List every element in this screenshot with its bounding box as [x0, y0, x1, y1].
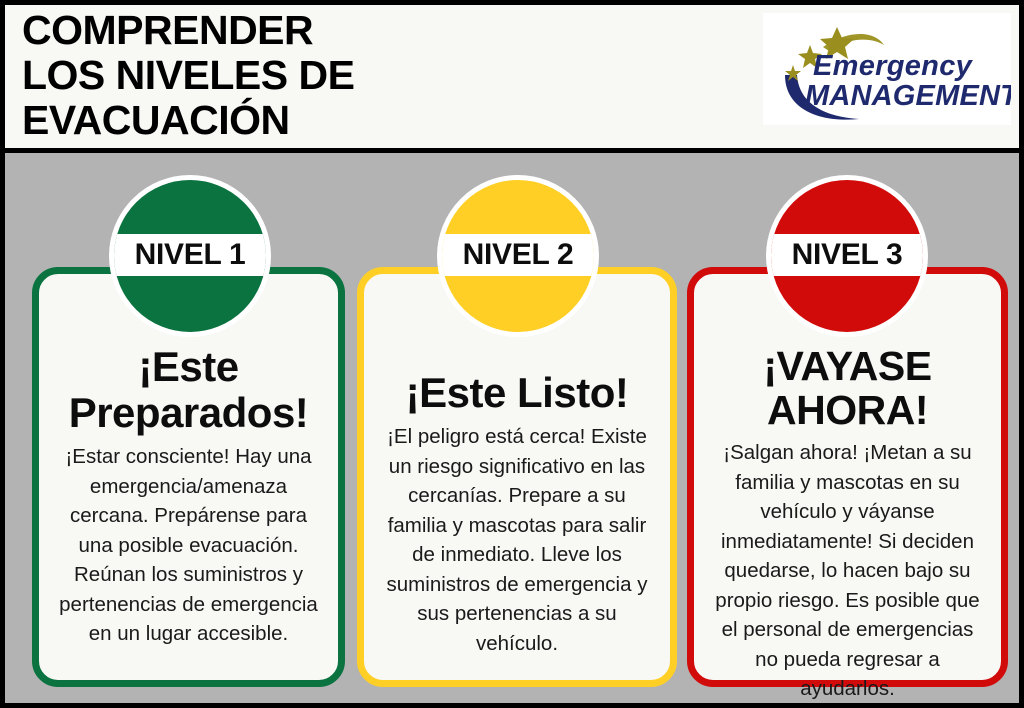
level-card-1-heading-line-1: ¡Este [138, 343, 238, 390]
level-badge-1-label: NIVEL 1 [135, 238, 246, 272]
level-badge-3-label: NIVEL 3 [792, 238, 903, 272]
level-card-2-content: ¡Este Listo! ¡El peligro está cerca! Exi… [364, 370, 670, 658]
level-card-1-heading: ¡Este Preparados! [49, 344, 328, 436]
title-line-1: COMPRENDER [22, 8, 762, 53]
logo-line-1-text: Emergency [813, 50, 974, 82]
level-badge-2-label: NIVEL 2 [463, 238, 574, 272]
title-line-2: LOS NIVELES DE [22, 53, 762, 98]
level-card-2-heading: ¡Este Listo! [374, 370, 660, 416]
level-badge-1: NIVEL 1 [109, 175, 271, 337]
level-card-2-heading-line-1: ¡Este Listo! [406, 369, 629, 416]
level-card-1-body: ¡Estar consciente! Hay una emergencia/am… [49, 442, 328, 649]
level-badge-2: NIVEL 2 [437, 175, 599, 337]
level-card-3-body: ¡Salgan ahora! ¡Metan a su familia y mas… [704, 438, 991, 704]
level-card-3-heading-line-1: ¡VAYASE [763, 343, 931, 389]
level-card-1-content: ¡Este Preparados! ¡Estar consciente! Hay… [39, 344, 338, 649]
level-badge-1-band: NIVEL 1 [109, 234, 271, 276]
level-badge-3-band: NIVEL 3 [766, 234, 928, 276]
level-card-3-heading-line-2: AHORA! [767, 387, 928, 433]
evacuation-levels-infographic: COMPRENDER LOS NIVELES DE EVACUACIÓN Eme… [0, 0, 1024, 708]
emergency-management-logo: Emergency MANAGEMENT [763, 13, 1011, 125]
level-card-1-heading-line-2: Preparados! [69, 389, 309, 436]
level-badge-3: NIVEL 3 [766, 175, 928, 337]
title-line-3: EVACUACIÓN [22, 98, 762, 143]
logo-line-2-text: MANAGEMENT [805, 80, 1011, 112]
level-card-2-body: ¡El peligro está cerca! Existe un riesgo… [374, 422, 660, 658]
level-card-3-content: ¡VAYASE AHORA! ¡Salgan ahora! ¡Metan a s… [694, 344, 1001, 704]
header-bar: COMPRENDER LOS NIVELES DE EVACUACIÓN Eme… [5, 5, 1019, 153]
level-badge-2-band: NIVEL 2 [437, 234, 599, 276]
page-title: COMPRENDER LOS NIVELES DE EVACUACIÓN [22, 8, 762, 143]
level-card-3-heading: ¡VAYASE AHORA! [704, 344, 991, 432]
